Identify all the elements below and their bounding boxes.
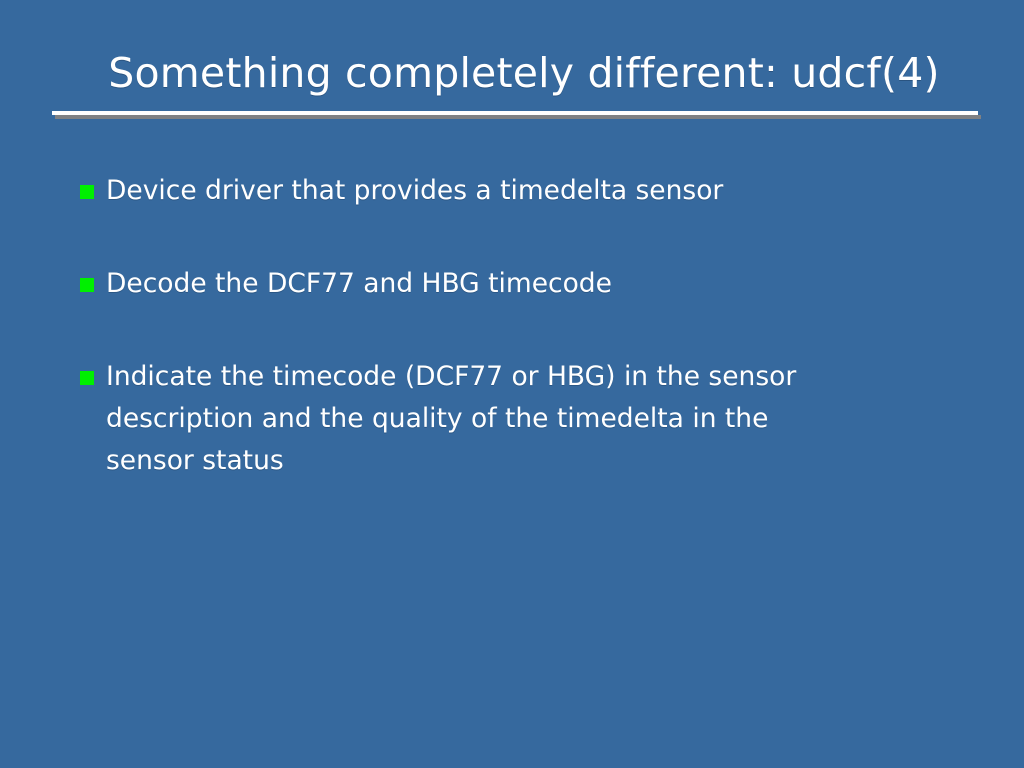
list-item-line: Decode the DCF77 and HBG timecode: [106, 263, 942, 305]
page-title: Something completely different: udcf(4): [52, 46, 978, 100]
list-item-line: Indicate the timecode (DCF77 or HBG) in …: [106, 356, 942, 398]
square-bullet-icon: [80, 371, 94, 385]
list-item-line: description and the quality of the timed…: [106, 398, 942, 440]
list-item: Device driver that provides a timedelta …: [80, 170, 960, 212]
list-item-line: sensor status: [106, 440, 942, 482]
list-item-line: Device driver that provides a timedelta …: [106, 170, 942, 212]
list-item-text: Device driver that provides a timedelta …: [106, 170, 942, 212]
square-bullet-icon: [80, 278, 94, 292]
slide-canvas: Something completely different: udcf(4) …: [0, 0, 1024, 768]
list-item-text: Decode the DCF77 and HBG timecode: [106, 263, 942, 305]
list-item-text: Indicate the timecode (DCF77 or HBG) in …: [106, 356, 942, 482]
title-underline-rule: [52, 111, 978, 115]
square-bullet-icon: [80, 185, 94, 199]
list-item: Indicate the timecode (DCF77 or HBG) in …: [80, 356, 960, 482]
bullet-list: Device driver that provides a timedelta …: [80, 170, 960, 482]
title-block: Something completely different: udcf(4): [52, 46, 978, 115]
title-underline-shadow: [55, 115, 981, 119]
list-item: Decode the DCF77 and HBG timecode: [80, 263, 960, 305]
